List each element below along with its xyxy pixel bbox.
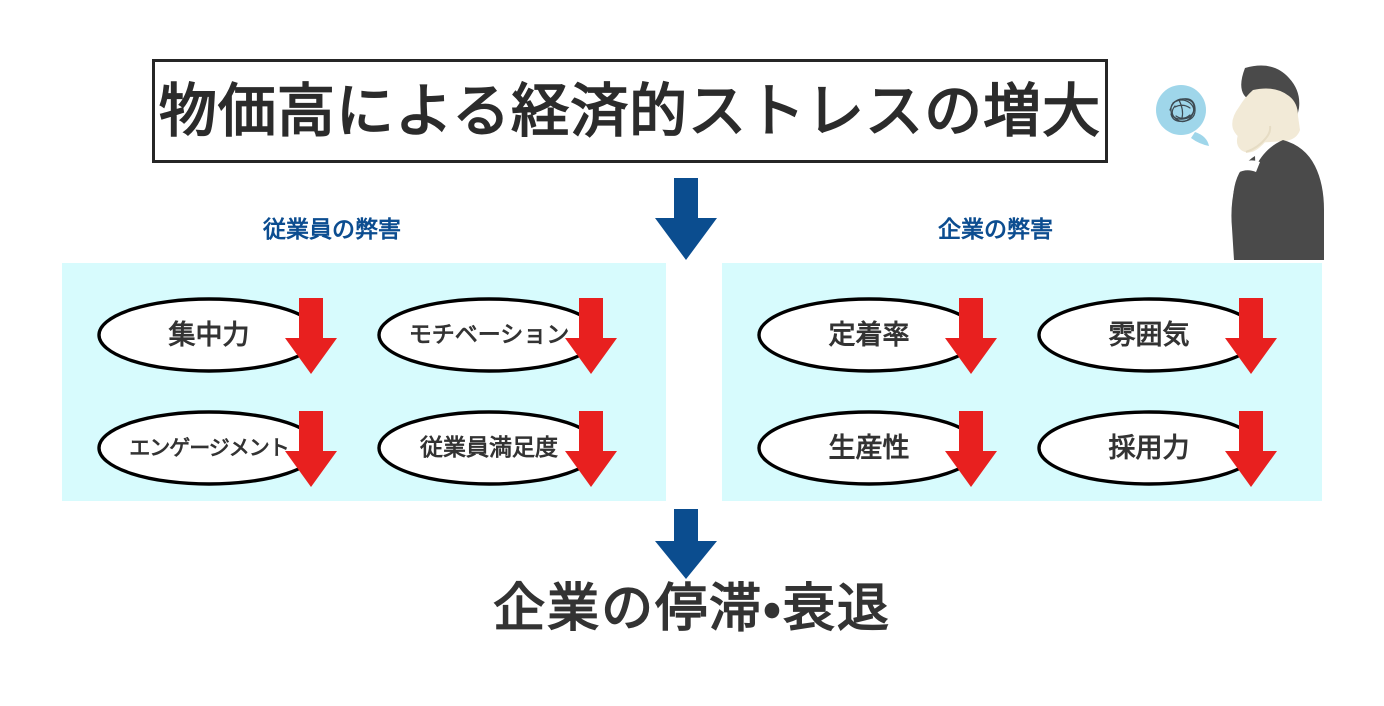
effect-item-employee-4[interactable]: 従業員満足度 (377, 403, 633, 493)
red-down-arrow-icon (945, 290, 997, 380)
blue-down-arrow-icon-top (655, 178, 717, 260)
red-down-arrow-icon (285, 403, 337, 493)
effect-item-employee-1[interactable]: 集中力 (97, 290, 353, 380)
red-down-arrow-icon (1225, 403, 1277, 493)
effect-item-employee-3[interactable]: エンゲージメント (97, 403, 353, 493)
page-title: 物価高による経済的ストレスの増大 (159, 82, 1101, 140)
conclusion-text: 企業の停滞・衰退 (0, 583, 1384, 635)
scribble-thought-bubble-icon (1156, 85, 1209, 146)
effect-item-employee-2[interactable]: モチベーション (377, 290, 633, 380)
blue-down-arrow-icon-bottom (655, 509, 717, 579)
red-down-arrow-icon (945, 403, 997, 493)
infographic-canvas: 物価高による経済的ストレスの増大 (0, 0, 1384, 706)
red-down-arrow-icon (1225, 290, 1277, 380)
panel-employee-effects: 集中力 モチベーション エンゲージメント (62, 263, 666, 501)
panel-company-effects: 定着率 雰囲気 生産性 (722, 263, 1322, 501)
effect-item-company-1[interactable]: 定着率 (757, 290, 1013, 380)
red-down-arrow-icon (285, 290, 337, 380)
section-label-employee: 従業員の弊害 (263, 219, 401, 242)
title-box: 物価高による経済的ストレスの増大 (152, 59, 1108, 163)
section-label-company: 企業の弊害 (938, 219, 1053, 242)
effect-item-company-2[interactable]: 雰囲気 (1037, 290, 1293, 380)
effect-item-company-3[interactable]: 生産性 (757, 403, 1013, 493)
red-down-arrow-icon (565, 403, 617, 493)
effect-item-company-4[interactable]: 採用力 (1037, 403, 1293, 493)
stressed-businessman-illustration (1133, 48, 1358, 268)
red-down-arrow-icon (565, 290, 617, 380)
